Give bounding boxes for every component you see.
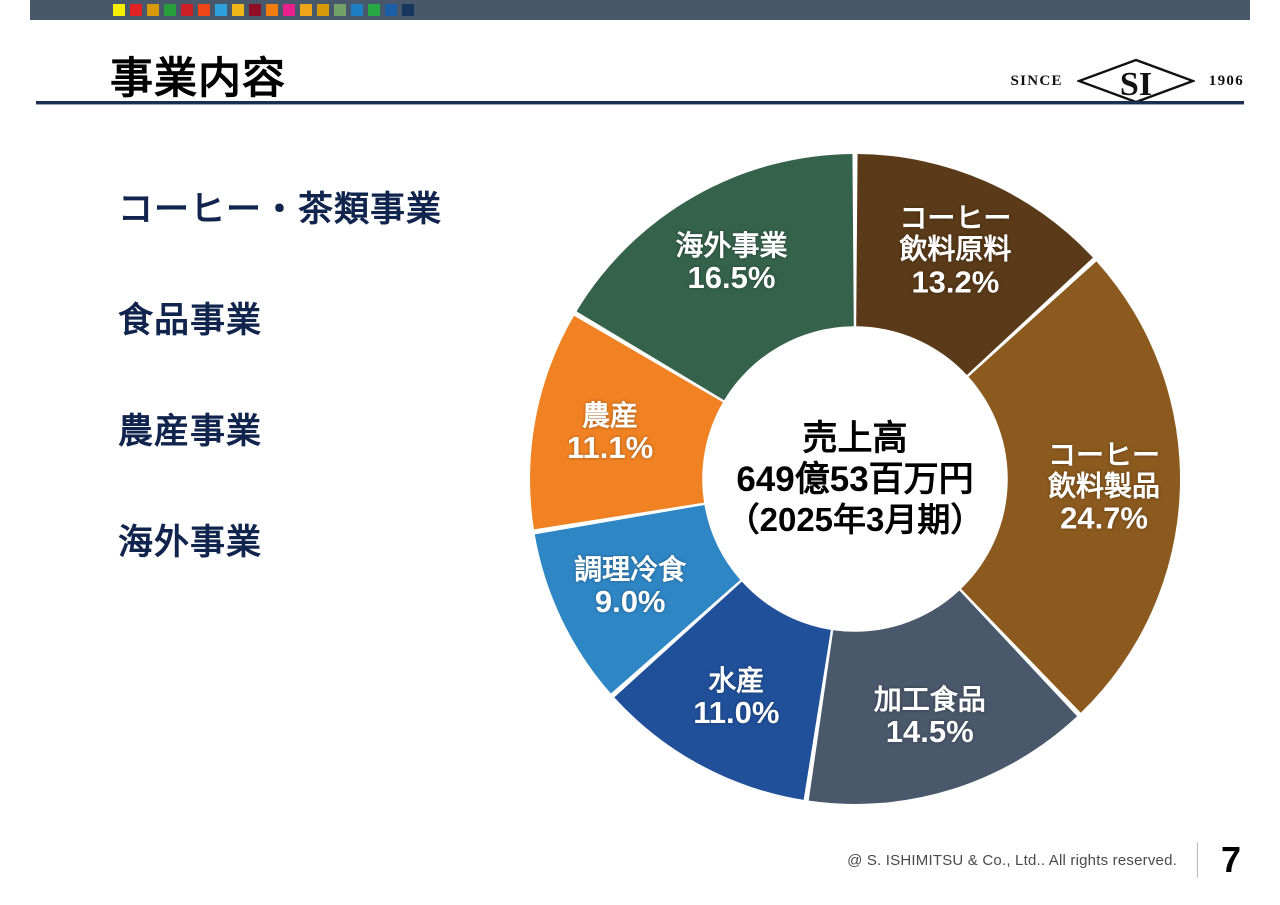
slide-footer: @ S. ISHIMITSU & Co., Ltd.. All rights r… <box>847 839 1244 881</box>
business-segment-list: コーヒー・茶類事業 食品事業 農産事業 海外事業 <box>118 192 538 560</box>
sidebar-item-food[interactable]: 食品事業 <box>118 303 538 338</box>
color-swatch-13 <box>334 4 346 16</box>
color-swatch-16 <box>385 4 397 16</box>
color-swatch-14 <box>351 4 363 16</box>
color-swatch-0 <box>113 4 125 16</box>
color-swatch-10 <box>283 4 295 16</box>
sidebar-item-agriculture[interactable]: 農産事業 <box>118 414 538 449</box>
color-swatch-2 <box>147 4 159 16</box>
top-color-bar <box>30 0 1250 20</box>
sidebar-item-coffee-tea[interactable]: コーヒー・茶類事業 <box>118 192 538 227</box>
color-swatch-6 <box>215 4 227 16</box>
color-swatch-strip <box>113 4 414 16</box>
color-swatch-1 <box>130 4 142 16</box>
si-diamond-icon: SI <box>1077 58 1195 104</box>
svg-text:SI: SI <box>1120 66 1152 103</box>
color-swatch-5 <box>198 4 210 16</box>
sales-donut-chart: 売上高 649億53百万円 （2025年3月期） コーヒー飲料原料13.2%コー… <box>522 146 1188 812</box>
page-number: 7 <box>1218 839 1244 881</box>
color-swatch-11 <box>300 4 312 16</box>
page-title: 事業内容 <box>110 58 286 101</box>
company-logo: SINCE SI 1906 <box>1010 58 1244 104</box>
color-swatch-8 <box>249 4 261 16</box>
color-swatch-9 <box>266 4 278 16</box>
color-swatch-15 <box>368 4 380 16</box>
logo-year-label: 1906 <box>1209 73 1244 90</box>
color-swatch-17 <box>402 4 414 16</box>
slide-header: 事業内容 SINCE SI 1906 <box>0 20 1280 102</box>
color-swatch-12 <box>317 4 329 16</box>
logo-since-label: SINCE <box>1010 73 1062 90</box>
title-divider <box>36 101 1244 104</box>
center-period: （2025年3月期） <box>690 501 1020 540</box>
donut-center-text: 売上高 649億53百万円 （2025年3月期） <box>690 418 1020 540</box>
sidebar-item-overseas[interactable]: 海外事業 <box>118 525 538 560</box>
color-swatch-4 <box>181 4 193 16</box>
footer-divider <box>1197 842 1198 878</box>
color-swatch-7 <box>232 4 244 16</box>
copyright-text: @ S. ISHIMITSU & Co., Ltd.. All rights r… <box>847 852 1177 869</box>
center-label-sales: 売上高 <box>690 418 1020 459</box>
color-swatch-3 <box>164 4 176 16</box>
center-value-amount: 649億53百万円 <box>690 460 1020 501</box>
